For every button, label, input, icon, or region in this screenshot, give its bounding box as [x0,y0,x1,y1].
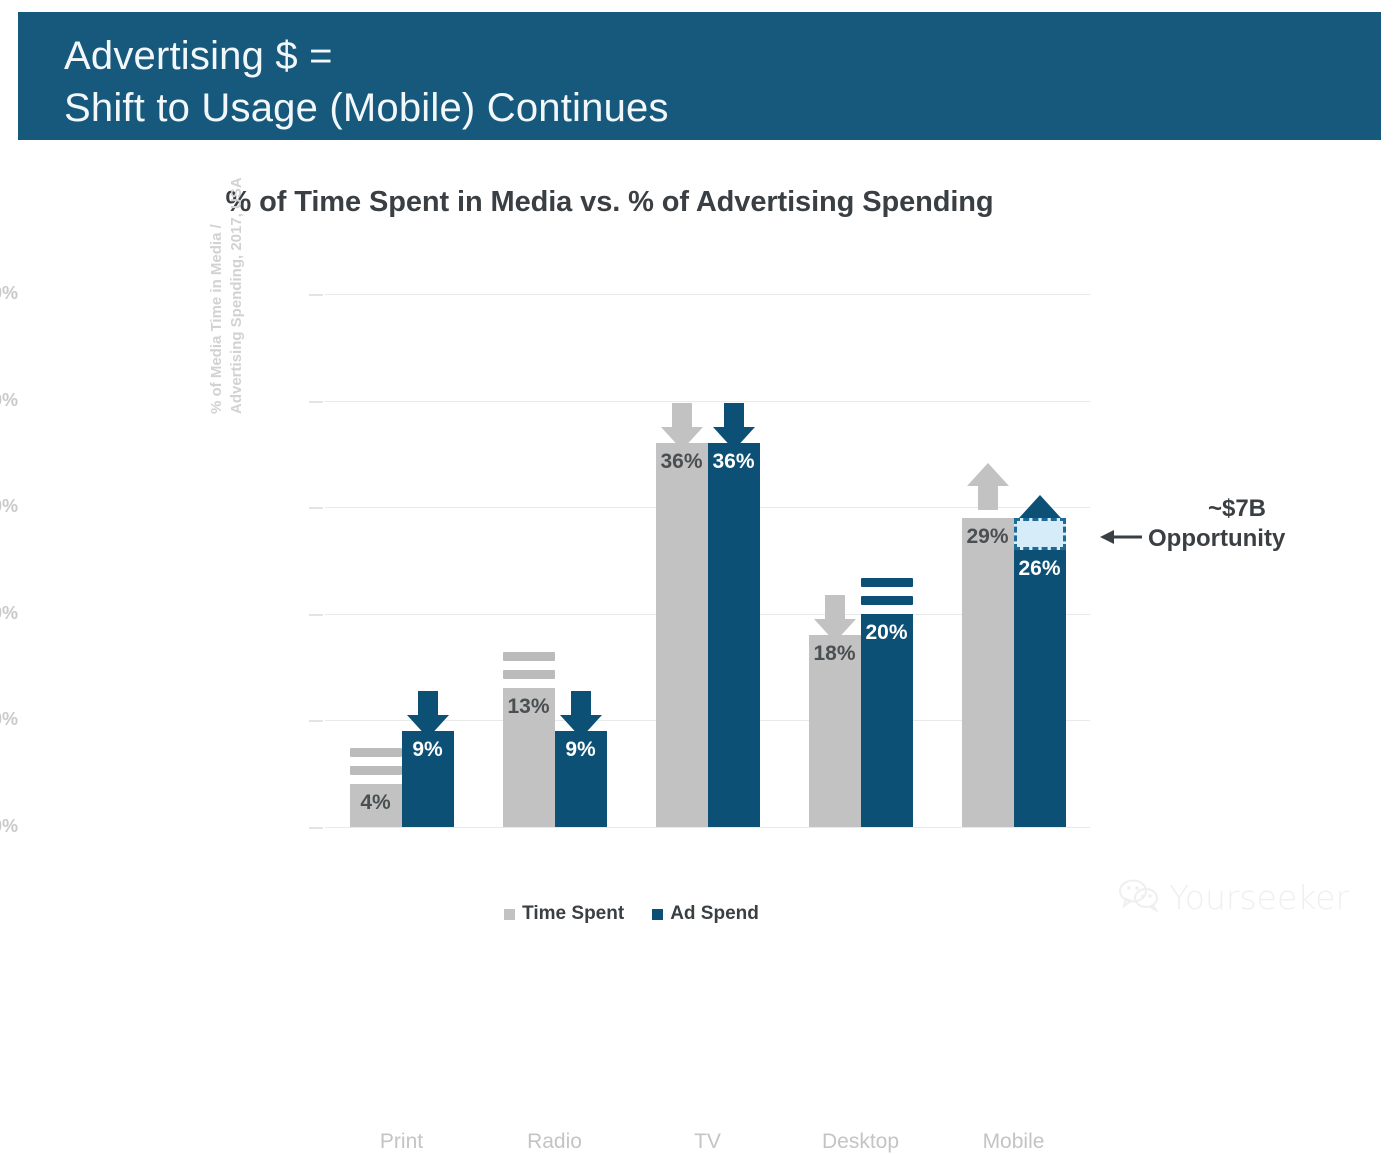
y-axis-tick-label: 10% [0,709,18,730]
bar-value-label: 20% [861,621,913,645]
legend-swatch [504,909,515,920]
opportunity-row: Opportunity [1100,525,1330,553]
bar-radio-ad-spend[interactable]: 9% [555,731,607,827]
x-axis-label-print: Print [325,1130,478,1154]
bar-radio-time-spent[interactable]: 13% [503,688,555,827]
bar-mobile-time-spent[interactable]: 29% [962,518,1014,827]
bar-value-label: 9% [402,738,454,762]
x-axis-label-desktop: Desktop [784,1130,937,1154]
down-arrow-icon [656,401,708,451]
legend-item-ad-spend[interactable]: Ad Spend [652,903,759,925]
bar-value-label: 9% [555,738,607,762]
down-arrow-icon [402,689,454,739]
bar-tv-time-spent[interactable]: 36% [656,443,708,827]
legend-item-time-spent[interactable]: Time Spent [504,903,624,925]
y-axis-tick-mark [309,614,323,616]
y-axis-tick-mark [309,827,323,829]
chart-title-text: % of Time Spent in Media vs. % of Advert… [225,186,993,219]
bar-tv-ad-spend[interactable]: 36% [708,443,760,827]
bar-value-label: 29% [962,525,1014,549]
bar-value-label: 18% [809,642,861,666]
bar-desktop-time-spent[interactable]: 18% [809,635,861,827]
page-title: Advertising $ = Shift to Usage (Mobile) … [64,30,669,134]
legend-swatch [652,909,663,920]
x-axis-label-radio: Radio [478,1130,631,1154]
gridline [325,827,1090,828]
down-arrow-icon [809,593,861,643]
x-axis-label-tv: TV [631,1130,784,1154]
up-arrow-icon [962,462,1014,512]
y-axis-title: % of Media Time in Media / Advertising S… [207,54,247,414]
bar-value-label: 4% [350,791,402,815]
bar-value-label: 13% [503,695,555,719]
down-arrow-icon [708,401,760,451]
y-axis-tick-mark [309,294,323,296]
watermark: Yourseeker [1118,878,1349,917]
y-axis-tick-label: 40% [0,390,18,411]
x-axis-label-mobile: Mobile [937,1130,1090,1154]
gridline [325,294,1090,295]
y-axis-tick-label: 20% [0,603,18,624]
left-arrow-icon [1100,528,1144,551]
legend-items: Time SpentAd Spend [490,903,773,925]
bar-desktop-ad-spend[interactable]: 20% [861,614,913,827]
y-axis-tick-mark [309,401,323,403]
y-axis-tick-label: 50% [0,283,18,304]
wechat-icon [1118,878,1160,917]
down-arrow-icon [555,689,607,739]
watermark-text: Yourseeker [1169,878,1349,917]
legend-label: Ad Spend [670,903,759,925]
bar-value-label: 36% [656,450,708,474]
opportunity-amount: ~$7B [1144,495,1330,523]
opportunity-box [1014,518,1066,550]
bar-mobile-ad-spend[interactable]: 26% [1014,550,1066,827]
plot-area: % of Media Time in Media / Advertising S… [325,294,1090,827]
y-axis-tick-label: 0% [0,816,18,837]
bar-value-label: 26% [1014,557,1066,581]
bar-value-label: 36% [708,450,760,474]
opportunity-label: Opportunity [1148,525,1285,553]
bar-print-ad-spend[interactable]: 9% [402,731,454,827]
y-axis-tick-label: 30% [0,496,18,517]
y-axis-tick-mark [309,507,323,509]
bar-print-time-spent[interactable]: 4% [350,784,402,827]
opportunity-annotation: ~$7B Opportunity [1100,495,1330,553]
legend-label: Time Spent [522,903,624,925]
y-axis-tick-mark [309,720,323,722]
